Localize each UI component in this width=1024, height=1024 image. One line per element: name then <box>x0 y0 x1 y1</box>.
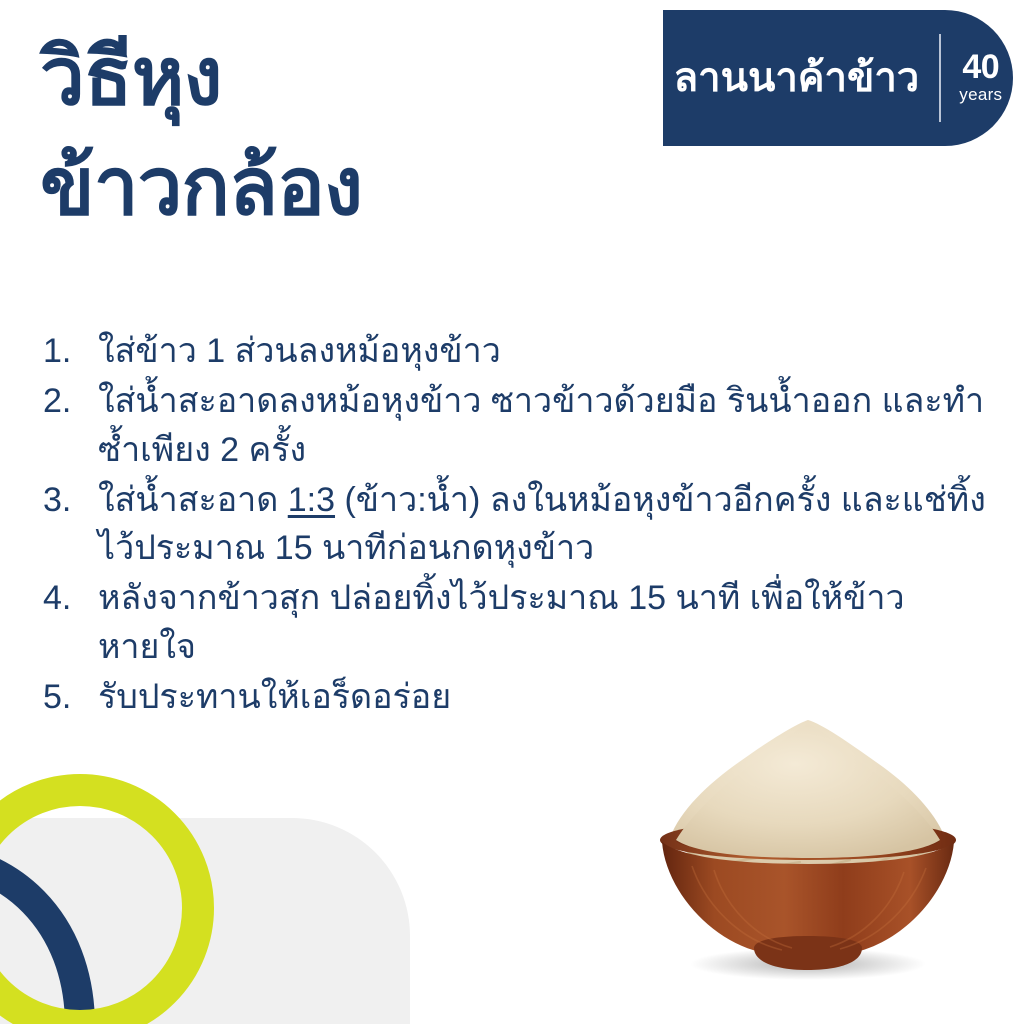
list-item: 1. ใส่ข้าว 1 ส่วนลงหม้อหุงข้าว <box>40 327 990 375</box>
step-number: 5. <box>40 673 98 721</box>
step-text: ใส่น้ำสะอาด 1:3 (ข้าว:น้ำ) ลงในหม้อหุงข้… <box>98 476 990 573</box>
step-ratio-underlined: 1:3 <box>288 481 335 519</box>
brand-years-label: years <box>959 84 1002 105</box>
step-number: 1. <box>40 327 98 375</box>
corner-decoration <box>0 818 410 1024</box>
page-title-line-1: วิธีหุง <box>40 22 640 132</box>
brand-name: ลานนาค้าข้าว <box>648 58 940 98</box>
instruction-list: 1. ใส่ข้าว 1 ส่วนลงหม้อหุงข้าว 2. ใส่น้ำ… <box>40 327 990 723</box>
page-title: วิธีหุง ข้าวกล้อง <box>40 22 640 243</box>
decoration-rings <box>0 726 420 1024</box>
step-text: ใส่ข้าว 1 ส่วนลงหม้อหุงข้าว <box>98 327 990 375</box>
step-text-before: ใส่น้ำสะอาด <box>98 481 288 519</box>
infographic-canvas: ลานนาค้าข้าว 40 years วิธีหุง ข้าวกล้อง … <box>0 0 1024 1024</box>
brand-anniversary: 40 years <box>941 50 1024 105</box>
step-number: 4. <box>40 574 98 622</box>
brand-badge: ลานนาค้าข้าว 40 years <box>663 10 1013 146</box>
page-title-line-2: ข้าวกล้อง <box>40 132 640 242</box>
bowl-of-brown-rice-image <box>636 690 976 990</box>
step-number: 3. <box>40 476 98 524</box>
step-text: ใส่น้ำสะอาดลงหม้อหุงข้าว ซาวข้าวด้วยมือ … <box>98 377 990 474</box>
list-item: 2. ใส่น้ำสะอาดลงหม้อหุงข้าว ซาวข้าวด้วยม… <box>40 377 990 474</box>
step-text: หลังจากข้าวสุก ปล่อยทิ้งไว้ประมาณ 15 นาท… <box>98 574 990 671</box>
list-item: 3. ใส่น้ำสะอาด 1:3 (ข้าว:น้ำ) ลงในหม้อหุ… <box>40 476 990 573</box>
list-item: 4. หลังจากข้าวสุก ปล่อยทิ้งไว้ประมาณ 15 … <box>40 574 990 671</box>
rice-bowl-icon <box>636 690 976 990</box>
step-number: 2. <box>40 377 98 425</box>
brand-years-number: 40 <box>962 50 999 84</box>
